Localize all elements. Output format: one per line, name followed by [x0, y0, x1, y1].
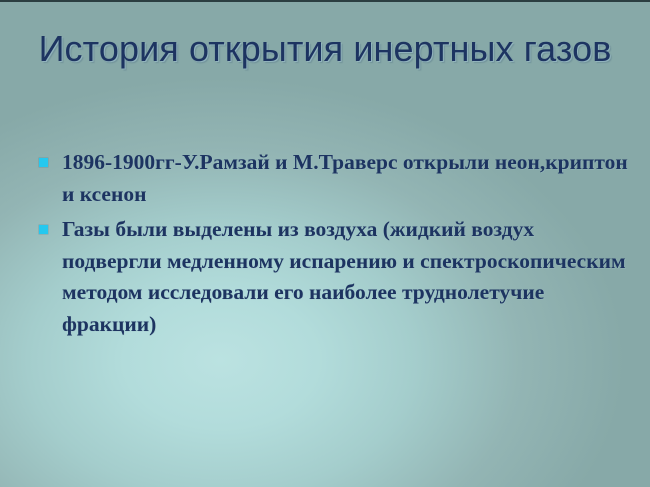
slide-top-rule: [0, 0, 650, 2]
list-item: 1896-1900гг-У.Рамзай и М.Траверс открыли…: [30, 147, 630, 210]
presentation-slide: История открытия инертных газов 1896-190…: [0, 0, 650, 487]
list-item-text: Газы были выделены из воздуха (жидкий во…: [62, 214, 630, 340]
list-item-text: 1896-1900гг-У.Рамзай и М.Траверс открыли…: [62, 147, 630, 210]
slide-title: История открытия инертных газов: [28, 27, 622, 71]
square-bullet-icon: [39, 158, 48, 167]
slide-body-content: 1896-1900гг-У.Рамзай и М.Траверс открыли…: [30, 147, 630, 340]
square-bullet-icon: [39, 225, 48, 234]
list-item: Газы были выделены из воздуха (жидкий во…: [30, 214, 630, 340]
